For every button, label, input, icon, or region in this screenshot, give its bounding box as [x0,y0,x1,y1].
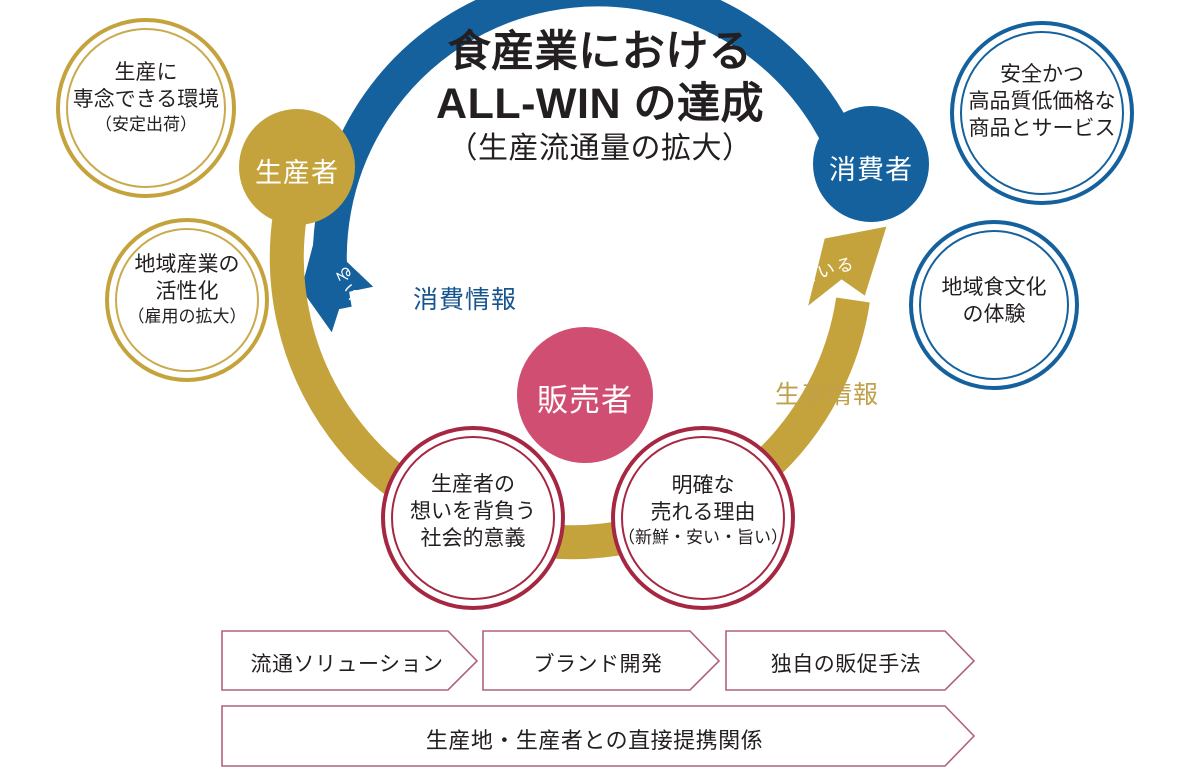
producer-benefit-bubble-2[interactable] [107,220,267,380]
producer-benefit-bubble-1[interactable] [58,20,234,196]
seller-value-bubble-2[interactable] [613,428,793,608]
consumer-benefit-bubble-1[interactable] [952,23,1132,203]
foundation-chevron[interactable] [222,706,974,766]
seller-value-bubble-1[interactable] [383,428,563,608]
capability-chevron-2[interactable] [483,631,719,690]
diagram-canvas: 誰がどのように食べているか 誰がどのように作っているか 食産業における ALL-… [0,0,1200,778]
producer-circle[interactable] [239,109,355,225]
consumer-benefit-bubble-2[interactable] [911,222,1077,388]
diagram-graphics: 誰がどのように食べているか 誰がどのように作っているか [0,0,1200,778]
capability-chevron-3[interactable] [726,631,974,690]
consumer-circle[interactable] [813,106,929,222]
capability-chevron-1[interactable] [222,631,477,690]
